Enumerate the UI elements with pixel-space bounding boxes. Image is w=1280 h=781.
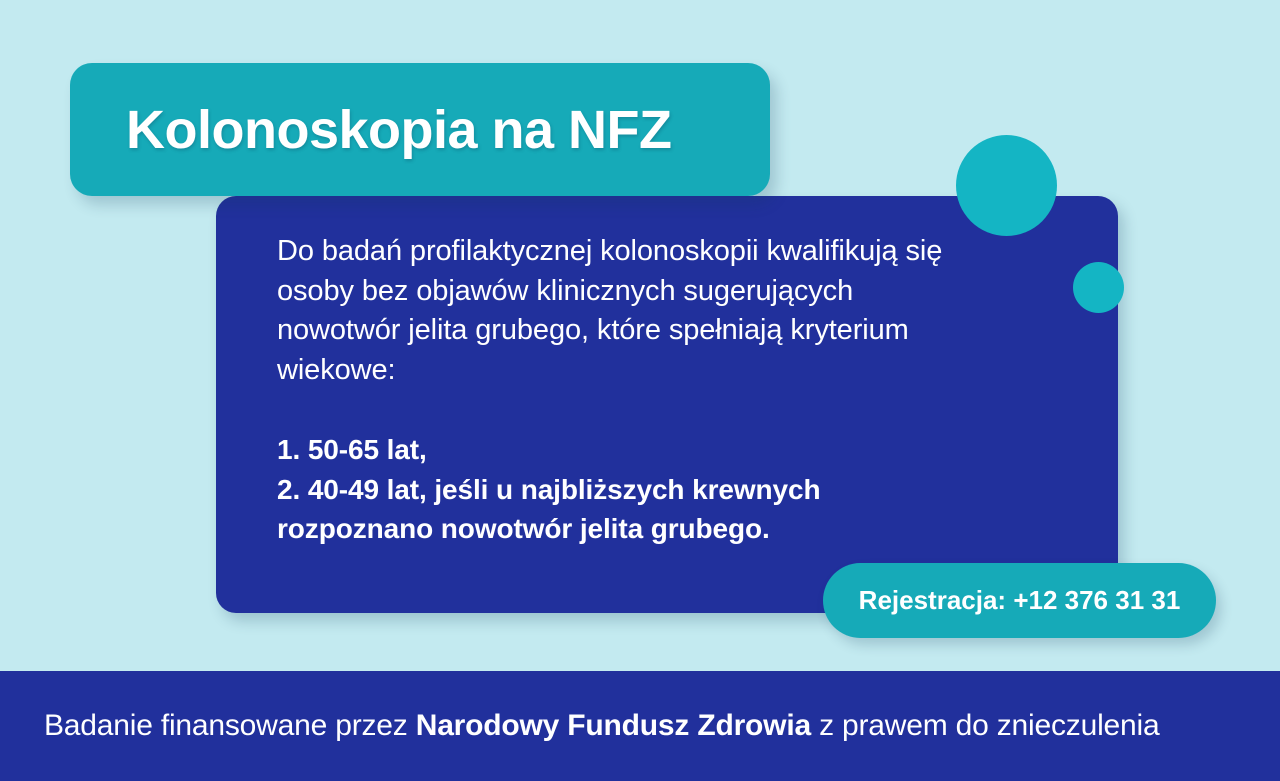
criteria-item-1: 1. 50-65 lat, xyxy=(277,430,977,470)
footer-emphasis: Narodowy Fundusz Zdrowia xyxy=(416,709,811,742)
page-title: Kolonoskopia na NFZ xyxy=(70,103,672,157)
footer-prefix: Badanie finansowane przez xyxy=(44,709,416,742)
footer-suffix: z prawem do znieczulenia xyxy=(811,709,1160,742)
registration-badge[interactable]: Rejestracja: +12 376 31 31 xyxy=(823,563,1216,638)
headline-chip: Kolonoskopia na NFZ xyxy=(70,63,770,196)
footer-text: Badanie finansowane przez Narodowy Fundu… xyxy=(0,709,1159,743)
registration-phone-label: Rejestracja: +12 376 31 31 xyxy=(859,585,1181,616)
large-teal-circle-icon xyxy=(956,135,1057,236)
footer-bar: Badanie finansowane przez Narodowy Fundu… xyxy=(0,671,1280,781)
small-teal-circle-icon xyxy=(1073,262,1124,313)
intro-paragraph: Do badań profilaktycznej kolonoskopii kw… xyxy=(277,232,977,390)
criteria-list: 1. 50-65 lat, 2. 40-49 lat, jeśli u najb… xyxy=(277,430,977,549)
poster-canvas: Kolonoskopia na NFZ Do badań profilaktyc… xyxy=(0,0,1280,781)
panel-body: Do badań profilaktycznej kolonoskopii kw… xyxy=(277,232,977,549)
criteria-item-2: 2. 40-49 lat, jeśli u najbliższych krewn… xyxy=(277,470,977,549)
